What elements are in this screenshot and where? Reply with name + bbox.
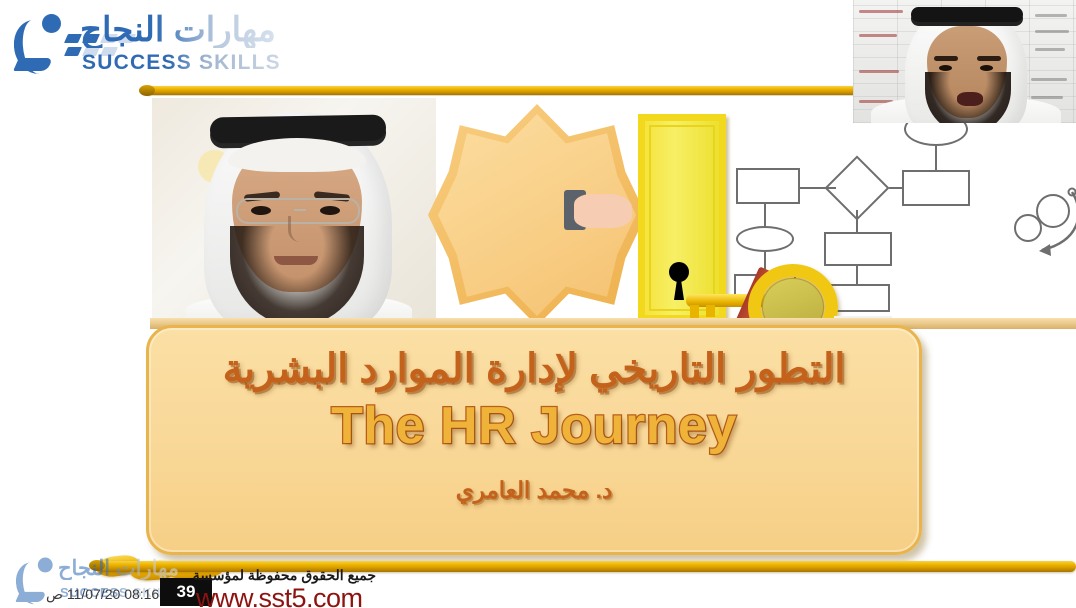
webcam-eye-left	[939, 65, 952, 71]
presenter-portrait-photo	[152, 98, 436, 326]
board-scribble	[1035, 48, 1065, 51]
webcam-iqal	[911, 7, 1023, 22]
process-flowchart-icon	[736, 106, 986, 286]
webcam-eyebrow-left	[934, 56, 958, 61]
key-bit	[706, 305, 715, 317]
success-skills-figure-icon	[16, 556, 49, 592]
board-scribble	[859, 34, 897, 37]
flowchart-node	[736, 168, 800, 204]
gears-icon	[1012, 188, 1076, 254]
portrait-mouth	[274, 256, 318, 265]
slide-title-english: The HR Journey	[331, 398, 737, 455]
webcam-eyebrow-right	[977, 56, 1001, 61]
slide-title-card: التطور التاريخي لإدارة الموارد البشرية T…	[146, 325, 922, 555]
board-scribble	[1035, 30, 1069, 33]
copyright-notice-arabic: جميع الحقوق محفوظة لمؤسسة	[196, 567, 376, 584]
flowchart-node	[824, 232, 892, 266]
hand-shape	[574, 194, 632, 228]
portrait-nose	[288, 216, 304, 242]
webcam-mouth	[957, 92, 983, 106]
flowchart-connector	[935, 146, 937, 170]
board-scribble	[1031, 96, 1063, 99]
slide-illustration	[150, 96, 1076, 328]
website-url[interactable]: www.sst5.com	[196, 583, 363, 608]
flowchart-node	[902, 170, 970, 206]
brand-name-english: SUCCESS SKILLS	[82, 52, 281, 74]
slide-title-arabic: التطور التاريخي لإدارة الموارد البشرية	[223, 344, 846, 394]
presenter-video-feed[interactable]	[853, 0, 1076, 123]
webcam-eye-right	[980, 65, 993, 71]
hand-with-device-icon	[564, 190, 634, 230]
flowchart-connector	[856, 266, 858, 284]
timestamp-label: 08:16 11/07/20 ص	[46, 586, 159, 603]
success-skills-figure-icon	[14, 12, 70, 74]
flowchart-ellipse	[736, 226, 794, 252]
board-scribble	[859, 70, 899, 73]
board-scribble	[1035, 14, 1067, 17]
flowchart-connector	[856, 210, 858, 232]
gears-arrow-icon	[1012, 188, 1076, 254]
presentation-screen: مهارات النجاح SUCCESS SKILLS	[0, 0, 1076, 608]
brand-logo-top: مهارات النجاح SUCCESS SKILLS	[10, 8, 240, 80]
board-scribble	[1031, 78, 1067, 81]
board-scribble	[859, 10, 903, 13]
brand-name-arabic: مهارات النجاح	[80, 12, 276, 48]
slide-presenter-name: د. محمد العامري	[456, 477, 612, 504]
flowchart-connector	[798, 187, 836, 189]
brand-name-arabic: مهارات النجاح	[58, 558, 179, 580]
